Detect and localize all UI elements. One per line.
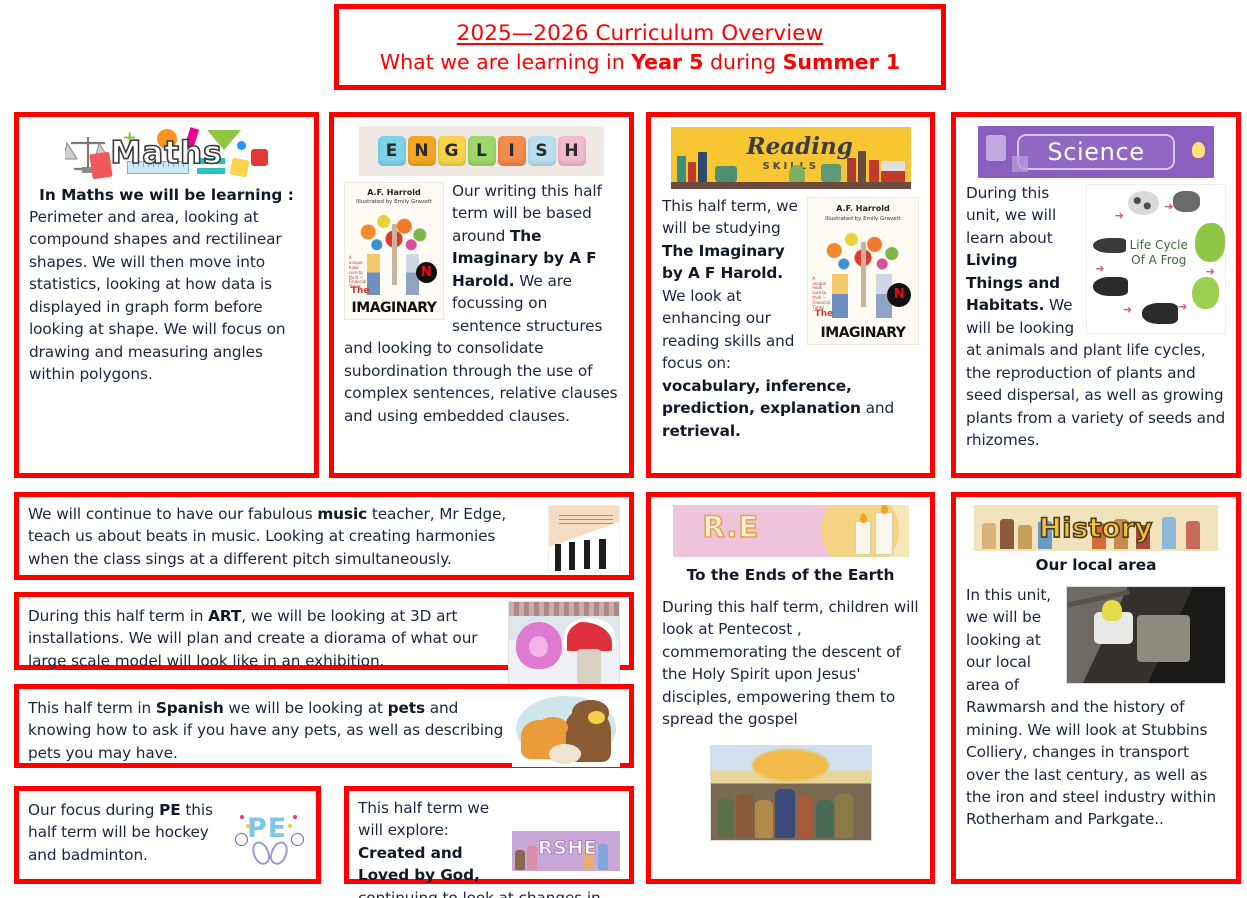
science-banner-plate: Science [1017, 134, 1174, 170]
rshe-banner-image: RSHE [512, 831, 620, 871]
letter-bead-h: H [558, 136, 586, 166]
book-stack-icon-1 [677, 156, 686, 182]
candle-flame-icon-1 [860, 513, 867, 523]
fresco-figure-6 [835, 794, 853, 837]
book-stack-icon-5 [858, 151, 866, 182]
tadpole-two-legs-icon [1093, 277, 1129, 296]
cycle-arrow-5-icon: ➜ [1095, 262, 1104, 275]
curriculum-overview-page: 2025—2026 Curriculum Overview What we ar… [0, 0, 1247, 898]
cat-head-icon [538, 717, 568, 738]
fresco-halo [752, 749, 829, 781]
letter-bead-i: I [498, 136, 526, 166]
history-heading: Our local area [966, 555, 1226, 576]
piano-key-4 [599, 539, 605, 569]
piano-sheet-music-image [548, 505, 620, 573]
book-stack-icon-3 [698, 152, 707, 182]
football-icon-right [291, 833, 304, 846]
science-banner-label: Science [1047, 138, 1144, 166]
music-body: We will continue to have our fabulous mu… [28, 503, 620, 570]
fresco-figure-5 [816, 800, 834, 838]
page-title: 2025—2026 Curriculum Overview [457, 21, 824, 46]
pe-bold: PE [159, 801, 180, 819]
frog-diagram-title: Life CycleOf A Frog [1128, 238, 1189, 268]
maths-banner-label: Maths [110, 135, 222, 171]
piano-key-1 [555, 544, 561, 570]
blue-dot-icon [237, 141, 246, 150]
mushroom-cap-icon [564, 618, 615, 650]
piano-key-3 [584, 540, 590, 569]
fresco-figure-2 [736, 794, 754, 837]
staff-line-1 [559, 515, 614, 516]
plant-icon [789, 165, 805, 182]
subject-panel-pe: PE Our focus during PE this half term wi… [14, 786, 321, 884]
pe-logo-label: PE [247, 813, 287, 844]
eggs-stage-icon [1173, 191, 1201, 212]
tadpole-four-legs-icon [1142, 303, 1178, 324]
cycle-arrow-1-icon: ➜ [1164, 200, 1173, 213]
subject-panel-rshe: RSHE This half term we will explore:Crea… [344, 786, 634, 884]
candle-flame-icon-2 [881, 505, 888, 514]
reading-focus-last: retrieval. [662, 422, 741, 440]
maths-heading: In Maths we will be learning : [29, 185, 304, 206]
science-banner: Science [978, 126, 1214, 178]
cycle-arrow-6-icon: ➜ [1115, 209, 1124, 222]
subtitle-mid: during [703, 50, 782, 74]
re-heading: To the Ends of the Earth [662, 565, 919, 586]
spanish-body-2: we will be looking at [224, 699, 388, 717]
book-stack-icon-8 [881, 161, 905, 171]
reading-banner-base [671, 182, 911, 189]
mining-machine [1137, 615, 1191, 661]
book-stack-icon-7 [881, 171, 905, 182]
red-card-icon [89, 152, 112, 179]
english-banner: E N G L I S H [359, 126, 604, 176]
coal-mine-photo [1066, 586, 1226, 684]
re-banner-label: R.E [703, 510, 760, 544]
guinea-pig-icon [549, 744, 581, 764]
music-body-1: We will continue to have our fabulous [28, 505, 317, 523]
confetti-dot-3 [293, 815, 297, 819]
book-quote: A unique hook sure to thrill — Financial… [812, 277, 830, 311]
candle-icon-1 [855, 521, 871, 555]
subject-panel-maths: + Maths In Maths we will be learning : P… [14, 112, 319, 478]
subject-panel-reading: Reading SKILLS A.F. Harrold Illustrated … [646, 112, 935, 478]
reading-banner-title: Reading [747, 133, 853, 160]
rshe-body-2: continuing to look at changes in ourselv… [358, 889, 601, 898]
spanish-bold-2: pets [388, 699, 425, 717]
cycle-arrow-2-icon: ➜ [1206, 265, 1215, 278]
subject-panel-art: During this half term in ART, we will be… [14, 592, 634, 670]
maths-banner: + Maths [61, 127, 273, 179]
netflix-badge-icon: N [416, 262, 438, 284]
microscope-icon [986, 135, 1006, 161]
cycle-arrow-4-icon: ➜ [1123, 303, 1132, 316]
book-author: A.F. Harrold [808, 204, 918, 213]
letter-bead-n: N [408, 136, 436, 166]
year-label: Year 5 [631, 50, 703, 74]
history-body-1: In this unit, we will be looking at our … [966, 586, 1051, 694]
mushroom-stem-icon [577, 649, 601, 685]
subject-panel-music: We will continue to have our fabulous mu… [14, 492, 634, 580]
history-figure-9 [1186, 521, 1200, 549]
book-stack-icon-4 [847, 158, 856, 182]
fresco-figure-1 [717, 798, 735, 837]
subtitle-prefix: What we are learning in [380, 50, 631, 74]
lightbulb-icon [1192, 142, 1205, 158]
history-figure-8 [1162, 517, 1176, 549]
football-icon-left [235, 833, 248, 846]
book-child-left [832, 274, 847, 318]
book-title: IMAGINARY [348, 300, 440, 316]
confetti-dot-2 [246, 824, 250, 828]
orchid-sculpture-icon [516, 622, 562, 669]
subject-panel-history: History Our local area In this unit, we … [951, 492, 1241, 884]
term-label: Summer 1 [783, 50, 901, 74]
spanish-body-1: This half term in [28, 699, 156, 717]
yellow-dice-icon [229, 157, 249, 177]
letter-bead-e: E [378, 136, 406, 166]
rshe-figure-1 [515, 850, 525, 870]
art-body-1: During this half term in [28, 607, 208, 625]
reader-figure-right-icon [821, 164, 841, 182]
gallery-ceiling [509, 602, 619, 616]
music-bold: music [317, 505, 367, 523]
pets-illustration-image [512, 691, 620, 767]
spanish-bold-1: Spanish [156, 699, 224, 717]
rshe-bold: Created and Loved by God, [358, 844, 480, 884]
miner-helmet-icon [1102, 600, 1123, 621]
red-dice-icon [251, 149, 268, 166]
rshe-figure-4 [598, 844, 608, 870]
reading-banner: Reading SKILLS [671, 127, 911, 189]
book-author: A.F. Harrold [345, 188, 443, 197]
fresco-figure-3 [755, 800, 773, 838]
frog-title-line-1: Life Cycle [1130, 238, 1188, 252]
pe-logo-image: PE [233, 807, 307, 871]
tadpole-icon [1093, 238, 1126, 253]
history-banner-label: History [1039, 513, 1153, 544]
maths-body: Perimeter and area, looking at compound … [29, 206, 304, 386]
letter-bead-l: L [468, 136, 496, 166]
subject-panel-science: Science ➜ ➜ ➜ ➜ ➜ ➜ Life CycleOf A Frog … [951, 112, 1241, 478]
book-the-label: The [815, 309, 834, 319]
rshe-body-1: This half term we will explore: [358, 799, 489, 839]
history-body-2: Rawmarsh and the history of mining. We w… [966, 698, 1216, 828]
confetti-dot-4 [288, 824, 292, 828]
subject-panel-re: R.E To the Ends of the Earth During this… [646, 492, 935, 884]
rshe-figure-2 [527, 846, 537, 870]
pentecost-fresco-image [710, 745, 872, 841]
science-body-1: During this unit, we will learn about [966, 184, 1056, 247]
reading-focus-list: vocabulary, inference, prediction, expla… [662, 377, 861, 417]
staff-line-2 [559, 519, 614, 520]
subject-panel-spanish: This half term in Spanish we will be loo… [14, 684, 634, 768]
imaginary-book-cover-image-reading: A.F. Harrold Illustrated by Emily Gravet… [807, 197, 919, 345]
embryo-stage-icon [1128, 191, 1158, 215]
book-stack-icon-6 [869, 160, 879, 182]
candle-icon-2 [875, 512, 893, 555]
reader-figure-left-icon [715, 166, 737, 182]
history-figure-2 [1000, 519, 1014, 549]
fresco-figure-4 [797, 796, 815, 837]
page-subtitle: What we are learning in Year 5 during Su… [380, 50, 900, 74]
reading-body-2: We look at enhancing our reading skills … [662, 287, 794, 372]
netflix-badge-icon: N [887, 283, 911, 307]
adult-frog-icon [1195, 223, 1225, 261]
confetti-dot-1 [240, 815, 244, 819]
beaker-icon [1012, 156, 1028, 172]
staff-line-3 [559, 523, 614, 524]
reading-book-title: The Imaginary by A F Harold. [662, 242, 785, 282]
young-frog-icon [1192, 277, 1220, 310]
letter-bead-g: G [438, 136, 466, 166]
re-banner: R.E [673, 505, 909, 557]
reading-body-1: This half term, we will be studying [662, 197, 798, 237]
frog-title-line-2: Of A Frog [1131, 253, 1186, 267]
rshe-banner-label: RSHE [538, 837, 597, 859]
book-tree-trunk [392, 224, 397, 285]
cycle-arrow-3-icon: ➜ [1178, 300, 1187, 313]
book-stack-icon-2 [688, 162, 696, 182]
book-title: IMAGINARY [811, 325, 914, 341]
art-bold: ART [208, 607, 241, 625]
letter-bead-s: S [528, 136, 556, 166]
frog-life-cycle-diagram: ➜ ➜ ➜ ➜ ➜ ➜ Life CycleOf A Frog [1086, 184, 1226, 334]
art-installation-image [508, 601, 620, 693]
subject-panel-english: E N G L I S H A.F. Harrold Illustrated b… [329, 112, 634, 478]
book-tree-trunk [861, 242, 867, 308]
imaginary-book-cover-image: A.F. Harrold Illustrated by Emily Gravet… [344, 182, 444, 320]
book-the-label: The [351, 286, 370, 296]
header-panel: 2025—2026 Curriculum Overview What we ar… [334, 4, 946, 90]
history-banner: History [974, 505, 1218, 551]
history-figure-1 [982, 523, 996, 549]
reading-focus-mid: and [861, 399, 894, 417]
history-figure-3 [1018, 525, 1032, 549]
re-body: During this half term, children will loo… [662, 596, 919, 731]
piano-key-2 [569, 542, 575, 570]
fresco-virgin-mary [775, 789, 796, 838]
pe-body-1: Our focus during [28, 801, 159, 819]
